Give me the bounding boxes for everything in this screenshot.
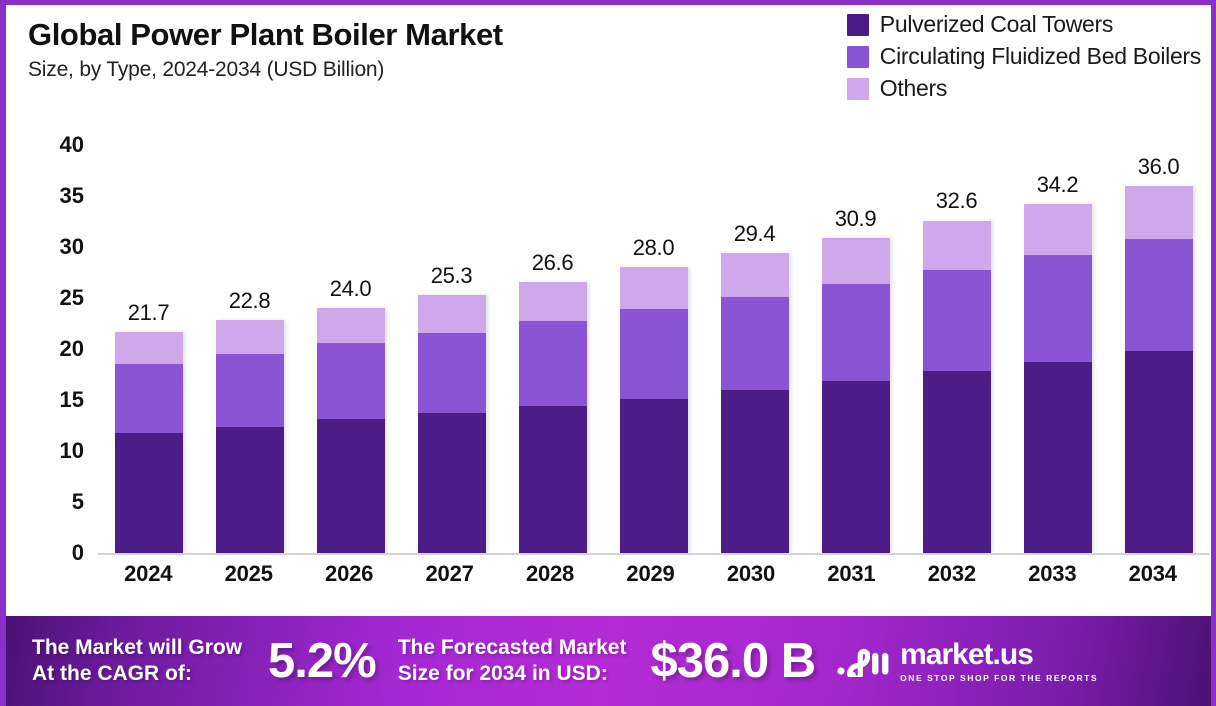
y-axis-tick: 20 (12, 336, 84, 362)
stacked-bar[interactable] (418, 295, 486, 553)
bar-segment[interactable] (923, 221, 991, 271)
chart-legend: Pulverized Coal Towers Circulating Fluid… (847, 11, 1201, 107)
y-axis-tick: 5 (12, 489, 84, 515)
bar-segment[interactable] (620, 267, 688, 309)
stacked-bar[interactable] (822, 238, 890, 553)
y-axis-tick: 10 (12, 438, 84, 464)
bar-segment[interactable] (519, 321, 587, 406)
bar-segment[interactable] (115, 364, 183, 432)
bar-segment[interactable] (1024, 362, 1092, 553)
bar-column[interactable]: 22.8 (199, 125, 300, 553)
bar-value-label: 21.7 (128, 300, 170, 326)
bar-value-label: 28.0 (633, 235, 675, 261)
bar-value-label: 22.8 (229, 288, 271, 314)
bar-segment[interactable] (822, 381, 890, 553)
bar-value-label: 29.4 (734, 221, 776, 247)
bar-segment[interactable] (1024, 255, 1092, 362)
legend-item-others[interactable]: Others (847, 75, 1201, 102)
bar-segment[interactable] (1125, 186, 1193, 239)
bar-segment[interactable] (115, 332, 183, 365)
x-axis-tick: 2030 (701, 561, 801, 595)
forecast-value: $36.0 B (650, 633, 815, 689)
bar-segment[interactable] (822, 284, 890, 381)
bar-segment[interactable] (721, 297, 789, 390)
bar-segment[interactable] (1024, 204, 1092, 255)
bar-value-label: 34.2 (1037, 172, 1079, 198)
legend-item-label: Others (880, 75, 947, 102)
bar-value-label: 24.0 (330, 276, 372, 302)
summary-banner: The Market will Grow At the CAGR of: 5.2… (6, 616, 1211, 706)
legend-item-label: Circulating Fluidized Bed Boilers (880, 43, 1201, 70)
bar-value-label: 26.6 (532, 250, 574, 276)
forecast-label-line1: The Forecasted Market (398, 635, 627, 661)
bar-group: 21.722.824.025.326.628.029.430.932.634.2… (98, 125, 1209, 553)
x-axis-tick: 2032 (902, 561, 1002, 595)
logo-wordmark: market.us (900, 640, 1098, 670)
legend-item-label: Pulverized Coal Towers (880, 11, 1113, 38)
forecast-label-line2: Size for 2034 in USD: (398, 661, 627, 687)
bar-segment[interactable] (317, 419, 385, 553)
x-axis-tick: 2025 (198, 561, 298, 595)
bar-column[interactable]: 32.6 (906, 125, 1007, 553)
cagr-label-line2: At the CAGR of: (32, 661, 242, 687)
market-us-logo[interactable]: market.us ONE STOP SHOP FOR THE REPORTS (837, 640, 1098, 683)
stacked-bar[interactable] (620, 267, 688, 553)
bar-segment[interactable] (519, 282, 587, 322)
bar-segment[interactable] (418, 295, 486, 333)
x-axis-tick: 2027 (399, 561, 499, 595)
bar-segment[interactable] (923, 270, 991, 371)
bar-column[interactable]: 29.4 (704, 125, 805, 553)
x-axis-tick: 2031 (801, 561, 901, 595)
legend-swatch-icon (847, 46, 869, 68)
y-axis-tick: 30 (12, 234, 84, 260)
legend-swatch-icon (847, 78, 869, 100)
bar-column[interactable]: 21.7 (98, 125, 199, 553)
cagr-label-line1: The Market will Grow (32, 635, 242, 661)
bar-segment[interactable] (216, 354, 284, 426)
bar-column[interactable]: 25.3 (401, 125, 502, 553)
infographic-frame: Global Power Plant Boiler Market Size, b… (0, 0, 1216, 706)
stacked-bar[interactable] (115, 332, 183, 553)
stacked-bar[interactable] (216, 320, 284, 553)
cagr-label: The Market will Grow At the CAGR of: (32, 635, 242, 686)
stacked-bar[interactable] (1024, 204, 1092, 553)
stacked-bar[interactable] (721, 253, 789, 553)
bar-segment[interactable] (620, 309, 688, 399)
stacked-bar[interactable] (1125, 186, 1193, 553)
bar-segment[interactable] (115, 433, 183, 553)
bar-value-label: 30.9 (835, 206, 877, 232)
bar-segment[interactable] (822, 238, 890, 284)
bar-segment[interactable] (216, 320, 284, 354)
page-title: Global Power Plant Boiler Market (28, 17, 503, 53)
title-block: Global Power Plant Boiler Market Size, b… (28, 17, 503, 82)
stacked-bar[interactable] (519, 282, 587, 553)
y-axis-tick: 35 (12, 183, 84, 209)
y-axis-tick: 40 (12, 132, 84, 158)
bar-segment[interactable] (1125, 351, 1193, 553)
x-axis-tick: 2024 (98, 561, 198, 595)
x-axis-tick: 2034 (1103, 561, 1203, 595)
bar-segment[interactable] (216, 427, 284, 553)
bar-segment[interactable] (317, 308, 385, 343)
legend-item-circulating-fluidized-bed-boilers[interactable]: Circulating Fluidized Bed Boilers (847, 43, 1201, 70)
bar-column[interactable]: 36.0 (1108, 125, 1209, 553)
bar-value-label: 32.6 (936, 188, 978, 214)
bar-column[interactable]: 28.0 (603, 125, 704, 553)
y-axis-tick: 0 (12, 540, 84, 566)
x-axis-tick: 2028 (500, 561, 600, 595)
y-axis-tick: 25 (12, 285, 84, 311)
stacked-bar[interactable] (923, 221, 991, 553)
bar-column[interactable]: 24.0 (300, 125, 401, 553)
bar-value-label: 25.3 (431, 263, 473, 289)
bar-column[interactable]: 26.6 (502, 125, 603, 553)
bar-segment[interactable] (418, 333, 486, 414)
x-axis: 2024202520262027202820292030203120322033… (98, 561, 1203, 595)
x-axis-tick: 2026 (299, 561, 399, 595)
forecast-label: The Forecasted Market Size for 2034 in U… (398, 635, 627, 686)
x-axis-tick: 2029 (600, 561, 700, 595)
bar-segment[interactable] (923, 371, 991, 553)
x-axis-tick: 2033 (1002, 561, 1102, 595)
cagr-value: 5.2% (268, 633, 376, 689)
bar-segment[interactable] (721, 390, 789, 553)
y-axis-tick: 15 (12, 387, 84, 413)
y-axis: 0510152025303540 (6, 125, 84, 555)
bar-segment[interactable] (1125, 239, 1193, 351)
bar-segment[interactable] (519, 406, 587, 553)
legend-item-pulverized-coal-towers[interactable]: Pulverized Coal Towers (847, 11, 1201, 38)
axis-baseline (98, 553, 1209, 555)
market-us-logo-mark-icon (837, 645, 891, 677)
bar-column[interactable]: 34.2 (1007, 125, 1108, 553)
bar-value-label: 36.0 (1138, 154, 1180, 180)
bar-segment[interactable] (620, 399, 688, 553)
chart-plot: 0510152025303540 21.722.824.025.326.628.… (6, 125, 1216, 555)
logo-tagline: ONE STOP SHOP FOR THE REPORTS (900, 673, 1098, 683)
legend-swatch-icon (847, 14, 869, 36)
plot-area: 21.722.824.025.326.628.029.430.932.634.2… (98, 125, 1209, 555)
bar-segment[interactable] (418, 413, 486, 553)
logo-text: market.us ONE STOP SHOP FOR THE REPORTS (900, 640, 1098, 683)
bar-segment[interactable] (317, 343, 385, 420)
bar-segment[interactable] (721, 253, 789, 297)
bar-column[interactable]: 30.9 (805, 125, 906, 553)
page-subtitle: Size, by Type, 2024-2034 (USD Billion) (28, 58, 503, 82)
stacked-bar[interactable] (317, 308, 385, 553)
